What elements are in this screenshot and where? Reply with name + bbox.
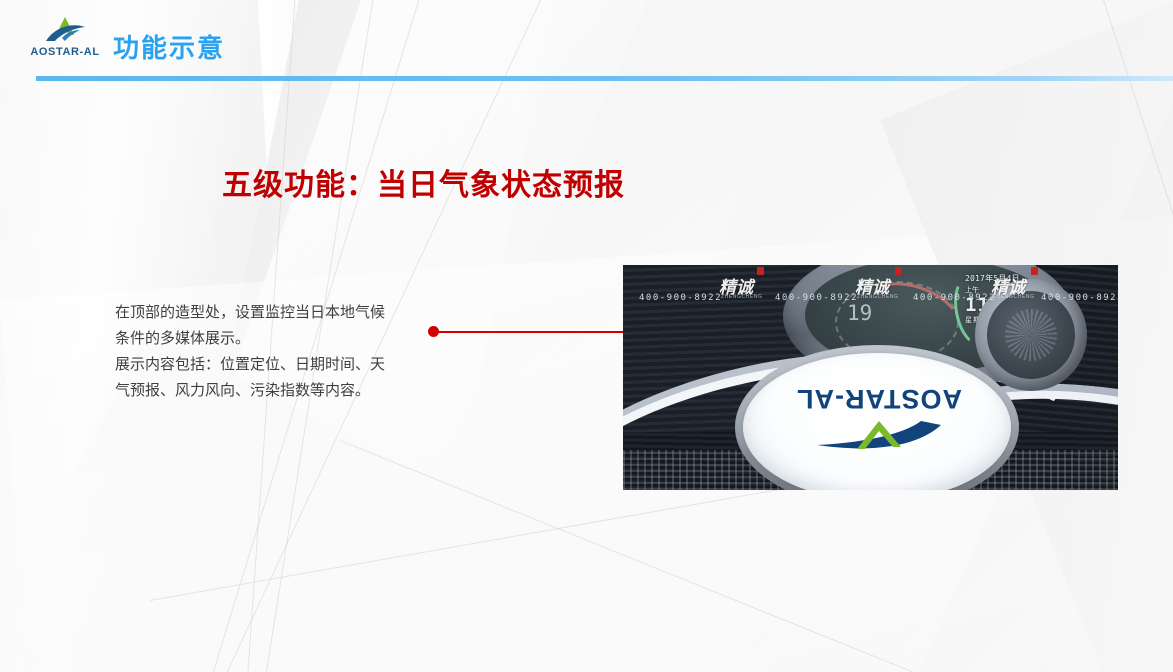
slide-header: AOSTAR-AL 功能示意 xyxy=(0,0,1173,86)
temperature-value: 19 xyxy=(847,301,872,325)
section-heading: 五级功能：当日气象状态预报 xyxy=(222,160,625,204)
dome-swoosh-icon xyxy=(809,413,949,453)
body-line: 条件的多媒体展示。 xyxy=(115,325,415,351)
body-line: 在顶部的造型处，设置监控当日本地气候 xyxy=(115,299,415,325)
watermark-phone: 400-900-8922 xyxy=(1041,293,1118,303)
watermark-mark xyxy=(757,267,764,275)
watermark-phone: 400-900-8922 xyxy=(775,293,858,303)
watermark-subtext: ZHENGCHENG xyxy=(857,294,899,300)
brand-logo-text: AOSTAR-AL xyxy=(25,46,105,58)
watermark-mark xyxy=(1031,267,1038,275)
page-title: 功能示意 xyxy=(113,28,225,65)
watermark-phone: 400-900-8922 xyxy=(913,293,996,303)
header-divider xyxy=(36,76,1173,81)
ceiling-display-photo: 19 2017年5月4日 上午 11：54 星期三 AOSTAR-AL 400-… xyxy=(623,265,1118,490)
dome-brand-text: AOSTAR-AL xyxy=(796,384,962,414)
dome-brand-logo: AOSTAR-AL xyxy=(773,383,985,414)
watermark-subtext: ZHENGCHENG xyxy=(993,294,1035,300)
facet-edge xyxy=(150,478,840,601)
slide-canvas: AOSTAR-AL 功能示意 五级功能：当日气象状态预报 在顶部的造型处，设置监… xyxy=(0,0,1173,672)
watermark-mark xyxy=(895,267,902,275)
watermark-subtext: ZHENGCHENG xyxy=(721,294,763,300)
brand-logo: AOSTAR-AL xyxy=(25,16,105,64)
watermark-phone: 400-900-8922 xyxy=(639,293,722,303)
body-line: 展示内容包括：位置定位、日期时间、天 xyxy=(115,351,415,377)
canister-grill xyxy=(1005,309,1057,361)
canister-lens xyxy=(987,291,1075,379)
body-text-block: 在顶部的造型处，设置监控当日本地气候 条件的多媒体展示。 展示内容包括：位置定位… xyxy=(115,299,415,403)
body-line: 气预报、风力风向、污染指数等内容。 xyxy=(115,377,415,403)
mountain-swoosh-icon xyxy=(41,16,89,46)
